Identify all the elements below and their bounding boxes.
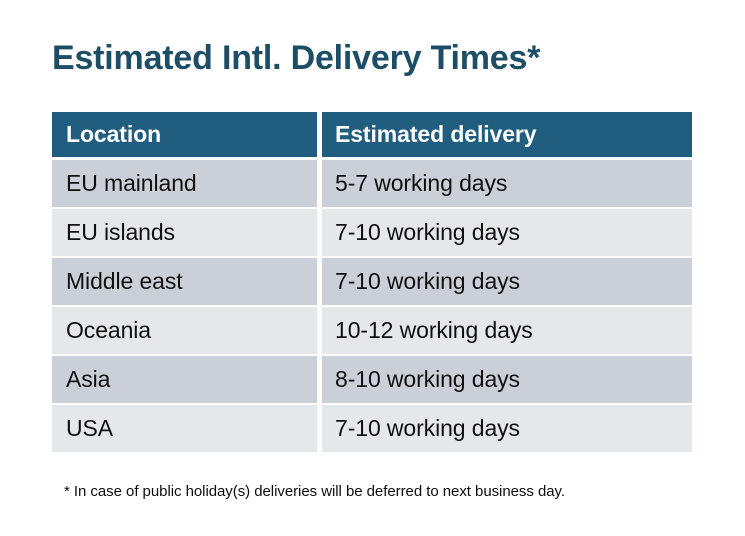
cell-estimated-delivery: 10-12 working days	[322, 307, 692, 354]
cell-estimated-delivery: 5-7 working days	[322, 160, 692, 207]
page-title: Estimated Intl. Delivery Times*	[52, 38, 540, 78]
cell-estimated-delivery: 8-10 working days	[322, 356, 692, 403]
table-row: EU islands 7-10 working days	[52, 209, 692, 256]
cell-location: EU islands	[52, 209, 317, 256]
table-header-row: Location Estimated delivery	[52, 112, 692, 157]
cell-location: Oceania	[52, 307, 317, 354]
table-row: Oceania 10-12 working days	[52, 307, 692, 354]
cell-location: USA	[52, 405, 317, 452]
delivery-times-table: Location Estimated delivery EU mainland …	[52, 112, 692, 454]
cell-location: Asia	[52, 356, 317, 403]
column-header-location: Location	[52, 112, 317, 157]
cell-estimated-delivery: 7-10 working days	[322, 405, 692, 452]
cell-location: Middle east	[52, 258, 317, 305]
cell-estimated-delivery: 7-10 working days	[322, 209, 692, 256]
delivery-times-page: Estimated Intl. Delivery Times* Location…	[0, 0, 745, 536]
table-row: EU mainland 5-7 working days	[52, 160, 692, 207]
table-row: Middle east 7-10 working days	[52, 258, 692, 305]
column-header-estimated-delivery: Estimated delivery	[322, 112, 692, 157]
cell-estimated-delivery: 7-10 working days	[322, 258, 692, 305]
table-row: Asia 8-10 working days	[52, 356, 692, 403]
table-row: USA 7-10 working days	[52, 405, 692, 452]
footnote-text: * In case of public holiday(s) deliverie…	[64, 481, 565, 503]
cell-location: EU mainland	[52, 160, 317, 207]
